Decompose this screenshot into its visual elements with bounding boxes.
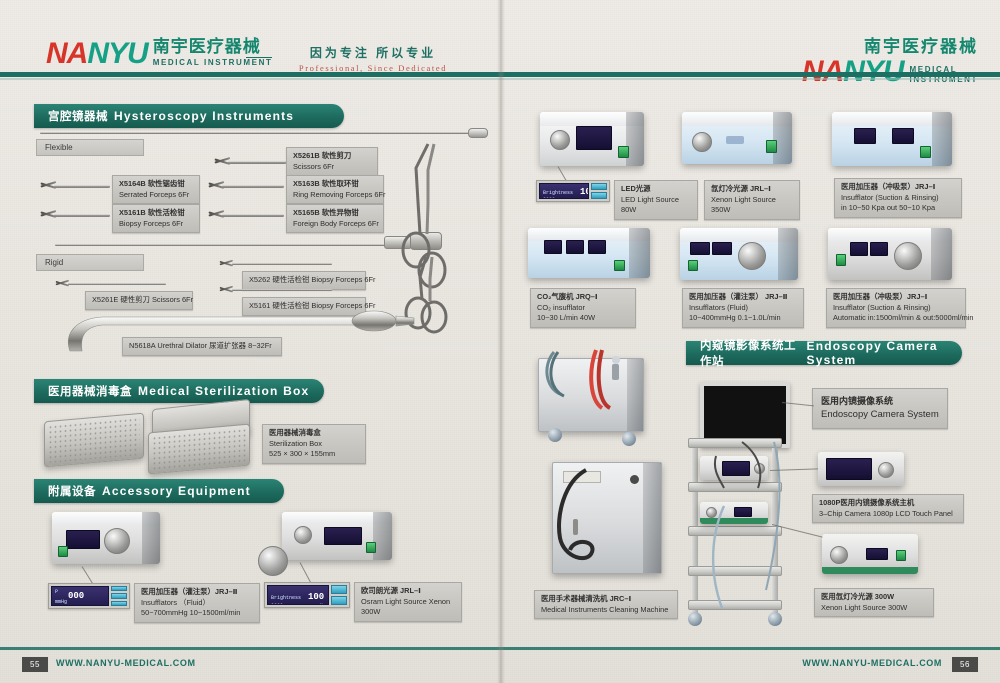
item-label-cn: X5165B 软性异物钳 [293,208,377,219]
item-label-cn: 医用加压器（冲吸泵）JRJ–Ⅰ [841,182,955,193]
power-button [896,550,906,561]
item-label-en: Serrated Forceps 6Fr [119,190,193,201]
item-label-cn: 医用器械消毒盒 [269,428,359,439]
item-label-x5163b: X5163B 软性取环钳 Ring Removing Forceps 6Fr [286,175,384,204]
control-group [726,136,744,144]
instrument-shaft [222,214,284,217]
device-xenon-light-source [682,112,792,164]
item-label-en: Insufflator (Suction & Rinsing) [841,193,955,204]
item-label-en: CO₂ insufflator [537,303,629,314]
device-label-insufflator-fluid-2: 医用加压器（灌注泵） JRJ–Ⅱ Insufflators (Fluid) 10… [682,288,804,328]
device-insufflator-fluid-2 [680,228,798,280]
camera-system-label: 医用内镜摄像系统 Endoscopy Camera System [812,388,948,429]
power-button [614,260,625,271]
website-url-left: WWW.NANYU-MEDICAL.COM [56,658,196,668]
lcd-label: Brightness [271,595,301,601]
item-label-x5262: X5262 硬性活检钳 Biopsy Forceps 6Fr [242,271,366,290]
sterilization-box-open [148,424,250,475]
machine-hoses [540,346,644,428]
device-screen [850,242,868,256]
camera-host-label: 1080P医用内镜摄像系统主机 3–Chip Camera 1080p LCD … [812,494,964,523]
item-label-en: Sterilization Box [269,439,359,450]
device-body [282,512,392,560]
page-footer: 55 WWW.NANYU-MEDICAL.COM WWW.NANYU-MEDIC… [0,647,1000,683]
device-screen [712,242,732,255]
section-title-cn: 宫腔镜器械 [48,108,108,124]
device-side [773,112,792,164]
lcd-value: 100 [580,187,589,197]
group-label-flexible-text: Flexible [45,143,73,152]
device-xenon-300w [822,534,918,574]
xenon-300w-label: 医用氙灯冷光源 300W Xenon Light Source 300W [814,588,934,617]
section-title-en: Medical Sterilization Box [138,384,309,398]
instrument-shaft [54,185,110,188]
device-screen [576,126,612,150]
item-label-line: X5262 硬性活检钳 Biopsy Forceps 6Fr [249,275,359,286]
power-button [618,146,629,158]
power-button [366,542,376,553]
item-label-cn: X5163B 软性取环钳 [293,179,377,190]
light-port [294,526,312,544]
brand-subtitle: MEDICAL INSTRUMENT [153,58,273,67]
item-label-cn: 医用氙灯冷光源 300W [821,592,927,603]
power-button [688,260,698,271]
camera-port [878,462,894,478]
device-body [822,534,918,574]
accessory-label-light-source: 欧司朗光源 JRL–Ⅰ Osram Light Source Xenon 300… [354,582,462,622]
instrument-shaft [232,289,332,291]
lcd-label: Brightness [543,190,573,196]
item-label-spec: 350W [711,205,793,216]
lcd-screen: P 000 mmHg ml/min [51,586,109,606]
cleaning-machine-label: 医用手术器械清洗机 JRC–Ⅰ Medical Instruments Clea… [534,590,678,619]
device-screen [588,240,606,254]
section-title-en: Accessory Equipment [102,484,251,498]
instrument-shaft [232,263,332,265]
device-label-insufflator-suction-2: 医用加压器（冲吸泵）JRJ–Ⅰ Insufflator (Suction & R… [826,288,966,328]
sterilization-box-closed [44,413,144,468]
device-side [931,228,952,280]
device-screen [566,240,584,254]
device-body [540,112,644,166]
item-label-cn: X5164B 软性锯齿钳 [119,179,193,190]
section-title-en: Hysteroscopy Instruments [114,109,294,123]
display-panel-insufflator: P 000 mmHg ml/min [48,583,130,609]
item-label-en: Endoscopy Camera System [821,408,939,422]
device-side [626,112,644,166]
device-screen [826,458,872,480]
item-label-cn: 氙灯冷光源 JRL–Ⅰ [711,184,793,195]
section-header-hysteroscopy: 宫腔镜器械 Hysteroscopy Instruments [34,104,344,128]
device-insufflator-suction-1 [832,112,952,166]
device-side [629,228,650,278]
instrument-shaft [54,214,110,217]
light-port [550,130,570,150]
website-url-right: WWW.NANYU-MEDICAL.COM [802,658,942,668]
item-label-en: Ring Removing Forceps 6Fr [293,190,377,201]
power-button [920,146,931,158]
item-label-spec: 10~400mmHg 0.1~1.0L/min [689,313,797,324]
item-label-spec: 10~30 L/min 40W [537,313,629,324]
item-label-cn: 医用内镜摄像系统 [821,395,939,408]
device-body [680,228,798,280]
item-label-en: Xenon Light Source [711,195,793,206]
brand-wordmark: NANYU [46,39,148,69]
device-body [828,228,952,280]
brand-name-cn: 南宇医疗器械 [153,32,273,57]
device-insufflator-suction-2 [828,228,952,280]
device-body [528,228,650,278]
lcd-screen: Brightness 100 0000 % [539,183,589,199]
pump-rotor [104,528,130,554]
item-label-size: 525 × 300 × 155mm [269,449,359,460]
lcd-value: 100 [308,592,324,602]
perforation-pattern [48,417,140,463]
item-label-en: Scissors 6Fr [293,162,371,173]
pump-rotor [738,242,766,270]
catalog-page: NANYU 南宇医疗器械 MEDICAL INSTRUMENT 因为专注 所以专… [0,0,1000,683]
light-guide-adapter [258,546,288,576]
power-button [836,254,846,266]
display-panel-led: Brightness 100 0000 % [536,180,610,202]
item-label-spec: 300W [361,607,455,618]
machine-caster [548,428,562,442]
device-label-xenon: 氙灯冷光源 JRL–Ⅰ Xenon Light Source 350W [704,180,800,220]
instrument-jaw [55,279,69,288]
item-label-cn: 1080P医用内镜摄像系统主机 [819,498,957,509]
device-side [932,112,952,166]
device-body [682,112,792,164]
page-header: NANYU 南宇医疗器械 MEDICAL INSTRUMENT 因为专注 所以专… [0,0,1000,86]
device-body [832,112,952,166]
section-header-accessory: 附属设备 Accessory Equipment [34,479,284,503]
device-screen [854,128,876,144]
pump-rotor [894,242,922,270]
power-button [766,140,777,153]
item-label-en: Biopsy Forceps 6Fr [119,219,193,230]
device-label-led: LED光源 LED Light Source 80W [614,180,698,220]
instrument-jaw [219,259,233,268]
item-label-cn: 医用手术器械清洗机 JRC–Ⅰ [541,594,671,605]
item-label-en: LED Light Source [621,195,691,206]
section-title-cn: 内窥镜影像系统工作站 [700,337,801,369]
device-screen [892,128,914,144]
device-screen [690,242,710,255]
item-label-cn: CO₂气腹机 JRQ–Ⅰ [537,292,629,303]
item-label-en: Insufflator (Suction & Rinsing) [833,303,959,314]
device-insufflator-fluid [52,512,160,564]
item-label-en: Osram Light Source Xenon [361,597,455,608]
instrument-jaw [219,285,233,294]
device-screen [544,240,562,254]
item-label-cn: X5161B 软性活检钳 [119,208,193,219]
device-screen [870,242,888,256]
machine-drain-hose [530,466,620,586]
item-label-en: Insufflators (Fluid) [689,303,797,314]
header-divider [0,72,1000,77]
item-label-cn: 医用加压器（灌注泵）JRJ–Ⅱ [141,587,253,598]
device-led-light-source [540,112,644,166]
brand-name-cn-right: 南宇医疗器械 [802,32,978,57]
display-panel-light-source: Brightness 100 0000 % [264,582,350,608]
group-label-flexible: Flexible [36,139,144,156]
item-label-cn: LED光源 [621,184,691,195]
section-header-camera-system: 内窥镜影像系统工作站 Endoscopy Camera System [686,341,962,365]
brand-logo-left: NANYU 南宇医疗器械 MEDICAL INSTRUMENT [46,32,272,69]
instrument-shaft [222,185,284,188]
device-osram-light-source [282,512,392,560]
light-port [692,132,712,152]
device-side [142,512,160,564]
item-label-n5618a: N5618A Urethral Dilator 尿道扩张器 8~32Fr [122,337,282,356]
page-number-right: 56 [952,657,978,672]
scope-handle [468,128,488,138]
accessory-label-insufflator: 医用加压器（灌注泵）JRJ–Ⅱ Insufflators （Fluid） 50~… [134,583,260,623]
page-gutter [497,0,505,683]
item-label-spec: 50~700mmHg 10~1500ml/min [141,608,253,619]
perforation-pattern [152,428,246,470]
item-label-spec: 80W [621,205,691,216]
item-label-cn: 欧司朗光源 JRL–Ⅰ [361,586,455,597]
section-title-en: Endoscopy Camera System [807,339,963,367]
light-port [830,546,848,564]
item-label-en: Xenon Light Source 300W [821,603,927,614]
device-accent-stripe [822,567,918,574]
item-label-en: 3–Chip Camera 1080p LCD Touch Panel [819,509,957,520]
cart-cables [690,440,800,620]
instrument-shaft [228,161,286,164]
item-label-spec: Automatic in:1500ml/min & out:5000ml/min [833,313,959,324]
machine-side [643,463,661,573]
brand-slogan: 因为专注 所以专业 Professional, Since Dedicated [258,44,488,73]
group-label-rigid: Rigid [36,254,144,271]
machine-indicator [630,475,639,484]
device-screen [66,530,100,549]
header-divider-secondary [0,78,1000,80]
group-label-rigid-text: Rigid [45,258,63,267]
device-side [778,228,798,280]
item-label-cn: 医用加压器（冲吸泵）JRJ–Ⅰ [833,292,959,303]
flexible-scope-shaft [40,132,470,134]
sterilization-box-label: 医用器械消毒盒 Sterilization Box 525 × 300 × 15… [262,424,366,464]
item-label-en: Insufflators （Fluid） [141,598,253,609]
lcd-label: P [55,589,58,595]
device-label-insufflator-suction-1: 医用加压器（冲吸泵）JRJ–Ⅰ Insufflator (Suction & R… [834,178,962,218]
page-number-left: 55 [22,657,48,672]
device-label-co2: CO₂气腹机 JRQ–Ⅰ CO₂ insufflator 10~30 L/min… [530,288,636,328]
item-label-x5165b: X5165B 软性异物钳 Foreign Body Forceps 6Fr [286,204,384,233]
section-header-sterilization: 医用器械消毒盒 Medical Sterilization Box [34,379,324,403]
item-label-x5161b: X5161B 软性活检钳 Biopsy Forceps 6Fr [112,204,200,233]
item-label-cn: X5261B 软性剪刀 [293,151,371,162]
item-label-spec: in 10~50 Kpa out 50~10 Kpa [841,203,955,214]
slogan-cn: 因为专注 所以专业 [258,44,488,61]
device-screen [324,527,362,545]
lcd-screen: Brightness 100 0000 % [267,585,329,605]
lcd-value: 000 [68,591,84,601]
item-label-x5261b: X5261B 软性剪刀 Scissors 6Fr [286,147,378,176]
machine-caster [622,432,636,446]
instrument-shaft [68,283,166,285]
footer-divider [0,647,1000,650]
device-camera-host [818,452,904,486]
panel-keys[interactable] [111,586,127,606]
device-co2-insufflator [528,228,650,278]
item-label-x5164b: X5164B 软性锯齿钳 Serrated Forceps 6Fr [112,175,200,204]
item-label-line: N5618A Urethral Dilator 尿道扩张器 8~32Fr [129,341,275,352]
item-label-en: Foreign Body Forceps 6Fr [293,219,377,230]
device-screen [866,548,888,560]
device-side [373,512,392,560]
panel-keys[interactable] [331,585,347,605]
power-button [58,546,68,557]
item-label-en: Medical Instruments Cleaning Machine [541,605,671,616]
section-title-cn: 附属设备 [48,483,96,499]
item-label-cn: 医用加压器（灌注泵） JRJ–Ⅱ [689,292,797,303]
device-body [52,512,160,564]
section-title-cn: 医用器械消毒盒 [48,383,132,399]
panel-keys[interactable] [591,183,607,199]
device-body [818,452,904,486]
rigid-scope-shaft [55,244,385,246]
